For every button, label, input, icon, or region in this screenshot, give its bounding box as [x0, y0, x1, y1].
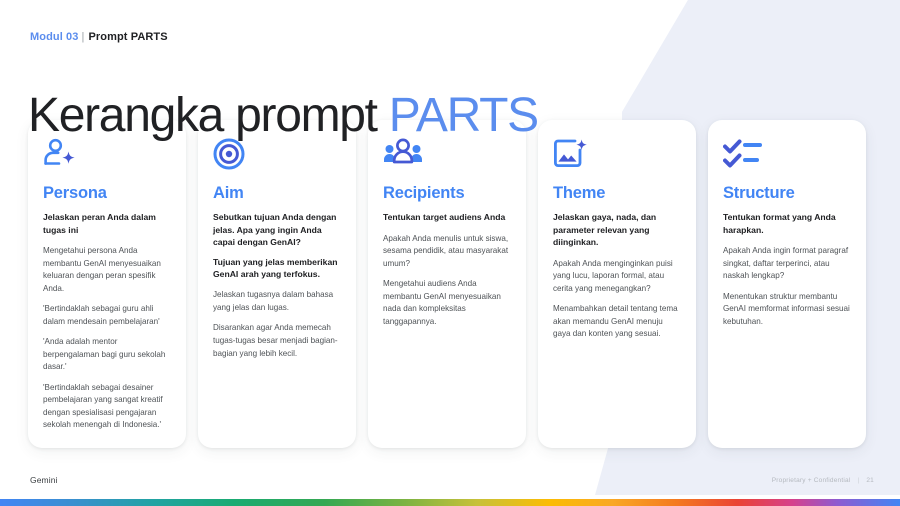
card-paragraph: 'Bertindaklah sebagai desainer pembelaja…: [43, 382, 171, 432]
card-paragraph: Menambahkan detail tentang tema akan mem…: [553, 303, 681, 341]
card-paragraph: Apakah Anda menginginkan puisi yang lucu…: [553, 258, 681, 296]
card-recipients[interactable]: Recipients Tentukan target audiens Anda …: [368, 120, 526, 448]
breadcrumb: Modul 03|Prompt PARTS: [30, 31, 168, 43]
card-paragraph: Mengetahui persona Anda membantu GenAI m…: [43, 245, 171, 295]
card-lead: Tentukan target audiens Anda: [383, 211, 511, 223]
page-title: Kerangka prompt PARTS: [28, 90, 538, 142]
person-sparkle-icon: [43, 138, 171, 176]
card-paragraph: Apakah Anda ingin format paragraf singka…: [723, 245, 851, 283]
footer-page-number: 21: [866, 477, 874, 484]
image-sparkle-icon: [553, 138, 681, 176]
card-title-theme: Theme: [553, 184, 681, 202]
page-title-accent: PARTS: [389, 89, 538, 142]
page-title-main: Kerangka prompt: [28, 89, 389, 142]
parts-card-row: Persona Jelaskan peran Anda dalam tugas …: [28, 120, 866, 448]
slide-canvas: Modul 03|Prompt PARTS Kerangka prompt PA…: [0, 0, 900, 506]
card-lead: Tentukan format yang Anda harapkan.: [723, 211, 851, 236]
target-bullseye-icon: [213, 138, 341, 176]
card-lead: Tujuan yang jelas memberikan GenAI arah …: [213, 256, 341, 281]
brand-gradient-bar: [0, 499, 900, 506]
card-paragraph: Menentukan struktur membantu GenAI memfo…: [723, 291, 851, 329]
footer-divider: |: [857, 477, 859, 484]
card-paragraph: Disarankan agar Anda memecah tugas-tugas…: [213, 322, 341, 360]
card-paragraph: 'Anda adalah mentor berpengalaman bagi g…: [43, 336, 171, 374]
card-lead: Jelaskan peran Anda dalam tugas ini: [43, 211, 171, 236]
card-persona[interactable]: Persona Jelaskan peran Anda dalam tugas …: [28, 120, 186, 448]
card-lead: Sebutkan tujuan Anda dengan jelas. Apa y…: [213, 211, 341, 248]
card-title-recipients: Recipients: [383, 184, 511, 202]
card-theme[interactable]: Theme Jelaskan gaya, nada, dan parameter…: [538, 120, 696, 448]
card-lead: Jelaskan gaya, nada, dan parameter relev…: [553, 211, 681, 248]
footer-meta: Proprietary + Confidential | 21: [772, 477, 874, 484]
card-paragraph: Mengetahui audiens Anda membantu GenAI m…: [383, 278, 511, 328]
card-paragraph: 'Bertindaklah sebagai guru ahli dalam me…: [43, 303, 171, 328]
footer-confidential-label: Proprietary + Confidential: [772, 477, 851, 484]
breadcrumb-subject: Prompt PARTS: [88, 31, 167, 43]
card-paragraph: Jelaskan tugasnya dalam bahasa yang jela…: [213, 289, 341, 314]
breadcrumb-separator: |: [81, 31, 84, 43]
card-title-structure: Structure: [723, 184, 851, 202]
people-group-icon: [383, 138, 511, 176]
card-aim[interactable]: Aim Sebutkan tujuan Anda dengan jelas. A…: [198, 120, 356, 448]
card-title-persona: Persona: [43, 184, 171, 202]
checklist-icon: [723, 138, 851, 176]
card-structure[interactable]: Structure Tentukan format yang Anda hara…: [708, 120, 866, 448]
card-title-aim: Aim: [213, 184, 341, 202]
footer-brand: Gemini: [30, 475, 58, 485]
breadcrumb-module: Modul 03: [30, 31, 78, 43]
card-paragraph: Apakah Anda menulis untuk siswa, sesama …: [383, 233, 511, 271]
